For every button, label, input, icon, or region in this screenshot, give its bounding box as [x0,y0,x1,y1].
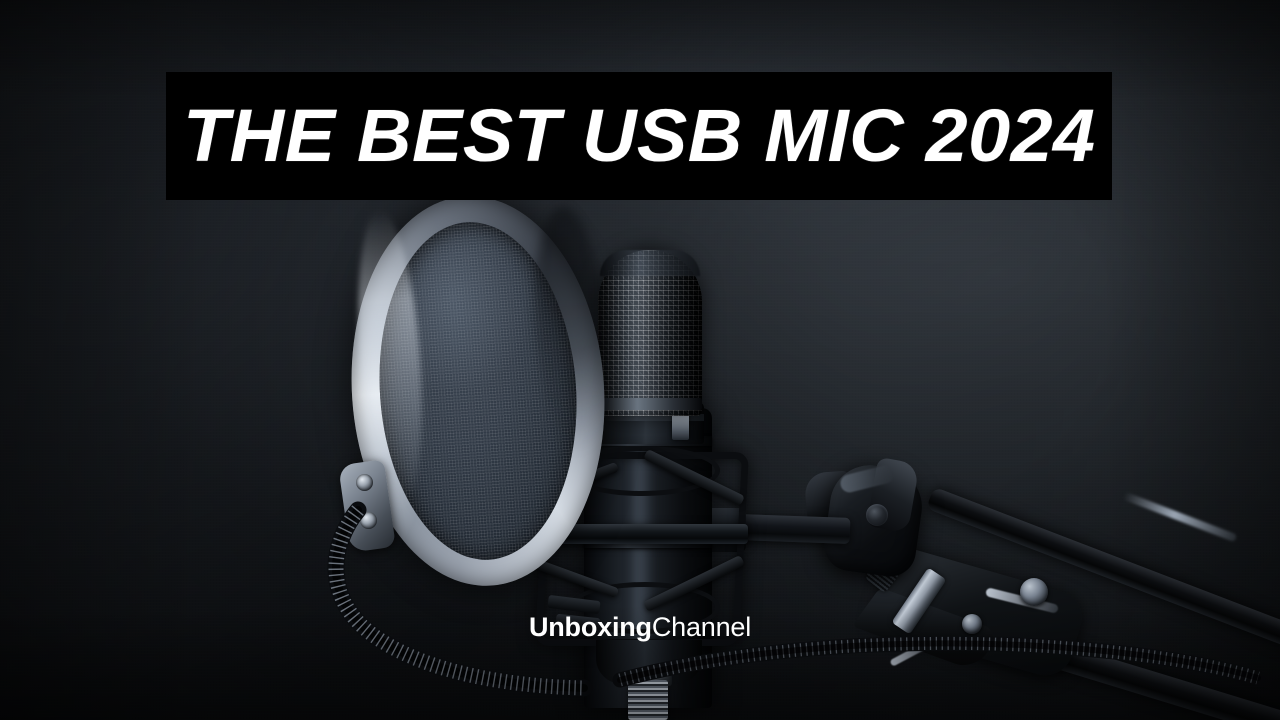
title-banner: THE BEST USB MIC 2024 [166,72,1112,200]
page-title: THE BEST USB MIC 2024 [183,99,1096,173]
thumbnail-canvas: THE BEST USB MIC 2024 UnboxingChannel [0,0,1280,720]
tension-knob-pivot-dot [866,504,888,526]
mount-connector-bar [740,514,851,544]
channel-watermark: UnboxingChannel [0,614,1280,641]
pop-filter-screw-2 [360,512,377,529]
pop-filter-screw-1 [356,474,373,491]
capsule-top-cap [600,250,700,276]
thread-adapter [628,680,668,720]
capsule-bottom-rim [598,398,702,410]
watermark-light-part: Channel [652,612,751,642]
watermark-bold-part: Unboxing [529,612,652,642]
joint-bolt-large [1020,578,1048,606]
boom-arm-highlight [1123,492,1238,542]
